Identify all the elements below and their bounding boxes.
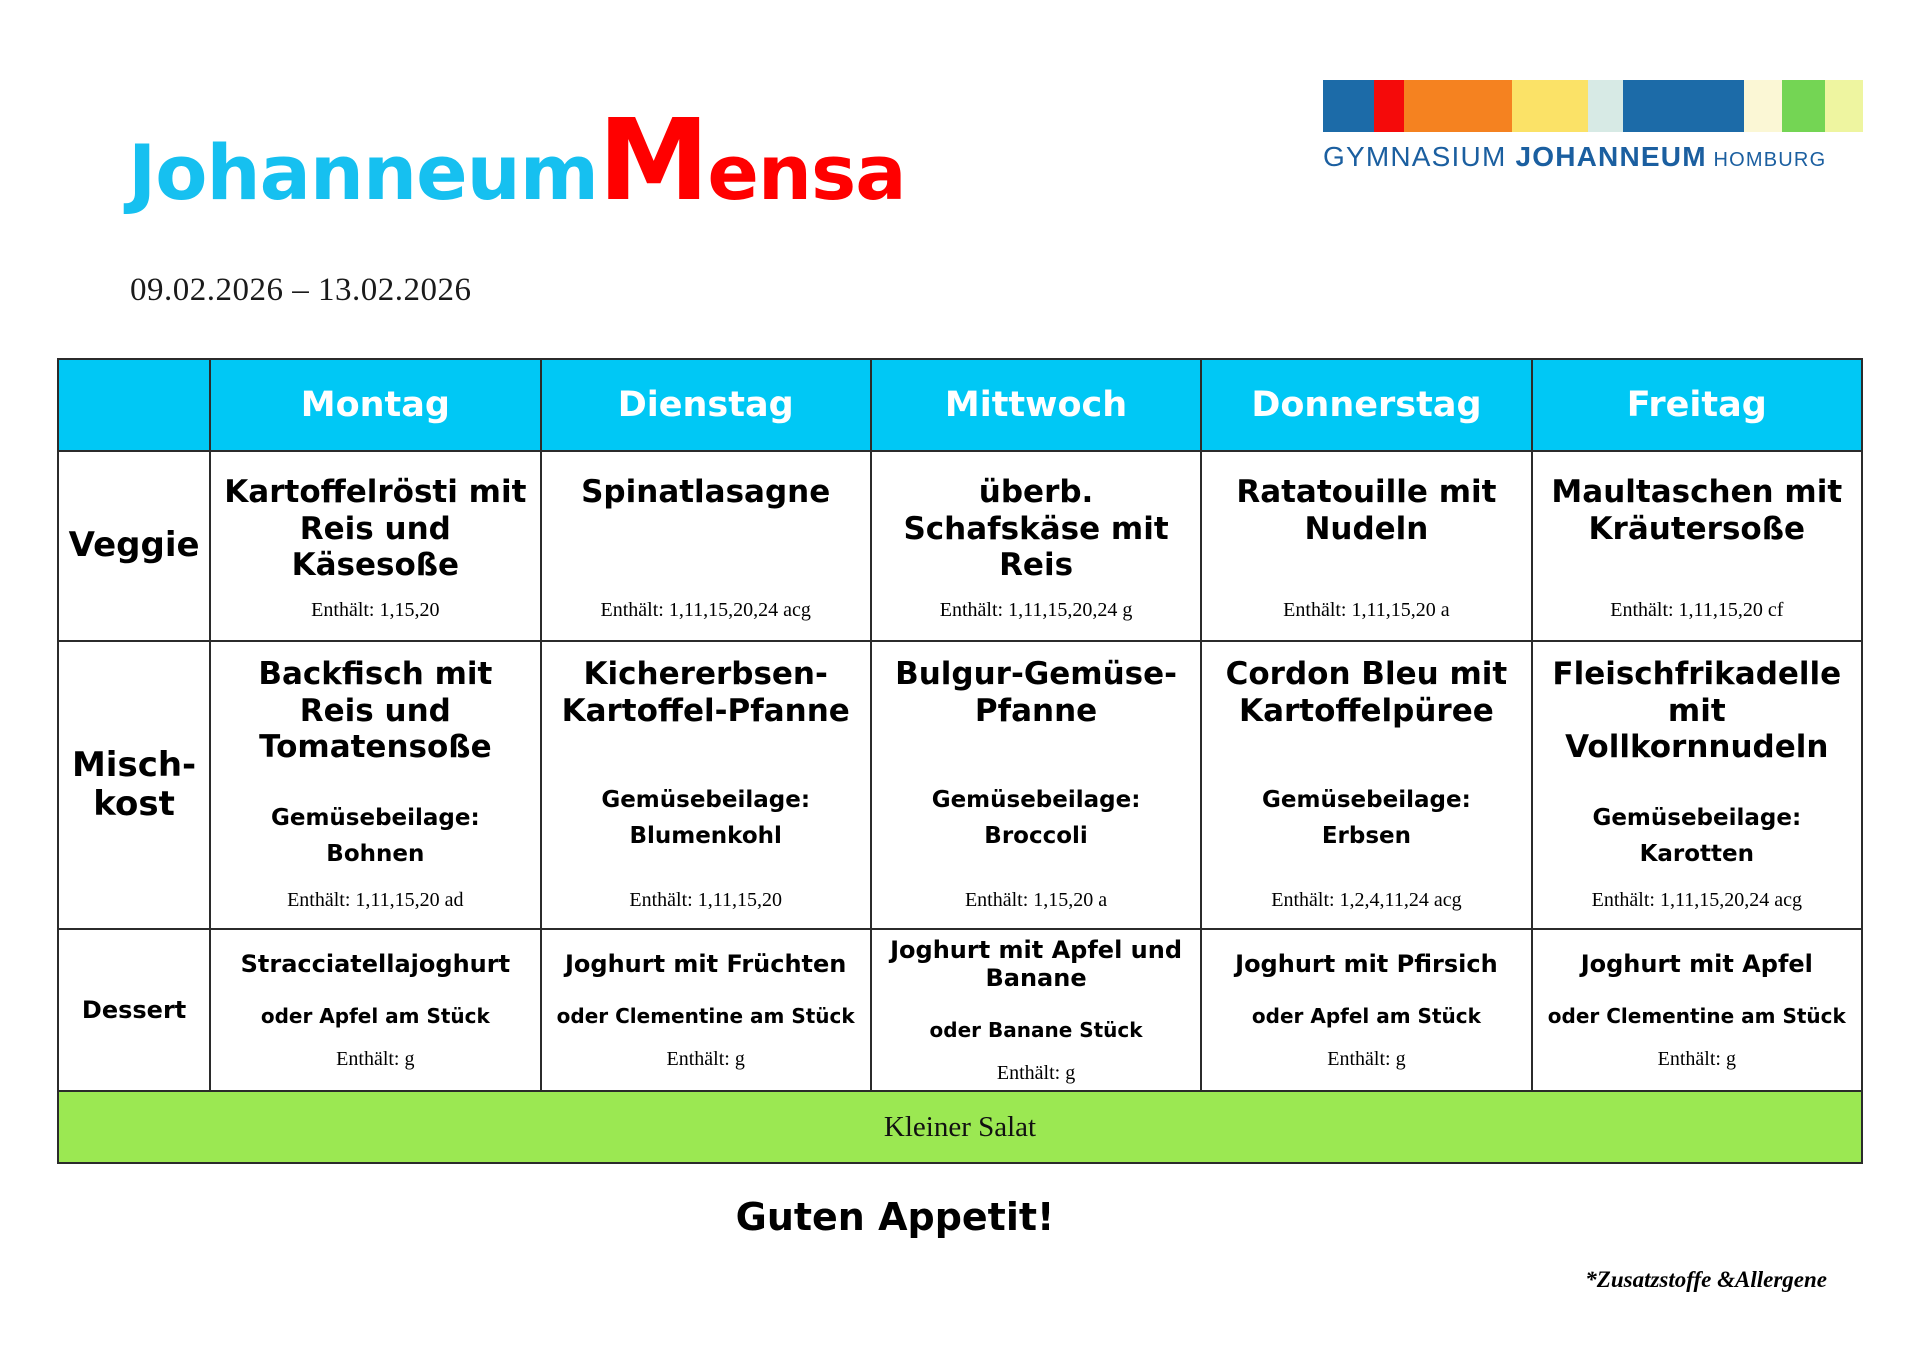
cell-veggie-dienstag: Spinatlasagne Enthält: 1,11,15,20,24 acg: [541, 451, 871, 641]
logo-bar-mint: [1588, 80, 1623, 132]
allergen-info: Enthält: 1,11,15,20,24 acg: [548, 599, 864, 622]
side-dish-value: Bohnen: [217, 841, 533, 867]
dish-name: Spinatlasagne: [548, 474, 864, 511]
dish-name: Maultaschen mit Kräutersoße: [1539, 474, 1855, 547]
logo-wordmark: GYMNASIUM JOHANNEUM HOMBURG: [1323, 141, 1863, 173]
header-day-donnerstag: Donnerstag: [1201, 359, 1531, 451]
row-label-veggie: Veggie: [58, 451, 210, 641]
allergen-info: Enthält: g: [548, 1048, 864, 1071]
dessert-alternative: oder Apfel am Stück: [217, 1004, 533, 1028]
dish-name: Ratatouille mit Nudeln: [1208, 474, 1524, 547]
allergen-info: Enthält: g: [1208, 1048, 1524, 1071]
dessert-alternative: oder Apfel am Stück: [1208, 1004, 1524, 1028]
dessert-name: Joghurt mit Früchten: [548, 950, 864, 978]
logo-bar-cream: [1744, 80, 1782, 132]
side-dish-label: Gemüsebeilage:: [878, 787, 1194, 813]
cell-veggie-freitag: Maultaschen mit Kräutersoße Enthält: 1,1…: [1532, 451, 1862, 641]
table-row-salad: Kleiner Salat: [58, 1091, 1862, 1163]
dessert-alternative: oder Banane Stück: [878, 1018, 1194, 1042]
allergen-info: Enthält: 1,2,4,11,24 acg: [1208, 889, 1524, 912]
cell-dessert-dienstag: Joghurt mit Früchten oder Clementine am …: [541, 929, 871, 1091]
dessert-name: Stracciatellajoghurt: [217, 950, 533, 978]
header-day-freitag: Freitag: [1532, 359, 1862, 451]
logo-bar-blue-1: [1323, 80, 1374, 132]
header-corner-cell: [58, 359, 210, 451]
weekly-menu-table: Montag Dienstag Mittwoch Donnerstag Frei…: [57, 358, 1863, 1164]
header-day-montag: Montag: [210, 359, 540, 451]
logo-text-johanneum: JOHANNEUM: [1515, 141, 1706, 172]
allergen-info: Enthält: 1,11,15,20,24 g: [878, 599, 1194, 622]
allergen-info: Enthält: 1,11,15,20: [548, 889, 864, 912]
allergen-info: Enthält: 1,11,15,20,24 acg: [1539, 889, 1855, 912]
cell-mischkost-montag: Backfisch mit Reis und Tomatensoße Gemüs…: [210, 641, 540, 929]
logo-bar-green: [1782, 80, 1825, 132]
dish-name: Fleischfrikadelle mit Vollkornnudeln: [1539, 656, 1855, 766]
school-logo: GYMNASIUM JOHANNEUM HOMBURG: [1323, 80, 1863, 173]
cell-dessert-mittwoch: Joghurt mit Apfel und Banane oder Banane…: [871, 929, 1201, 1091]
logo-bar-orange: [1404, 80, 1512, 132]
dish-name: Kartoffelrösti mit Reis und Käsesoße: [217, 474, 533, 584]
page-header: JohanneumMensa 09.02.2026 – 13.02.2026 G…: [0, 0, 1920, 300]
salad-banner: Kleiner Salat: [58, 1091, 1862, 1163]
side-dish-label: Gemüsebeilage:: [1539, 805, 1855, 831]
side-dish-value: Karotten: [1539, 841, 1855, 867]
dish-name: Cordon Bleu mit Kartoffelpüree: [1208, 656, 1524, 729]
cell-dessert-donnerstag: Joghurt mit Pfirsich oder Apfel am Stück…: [1201, 929, 1531, 1091]
logo-text-homburg: HOMBURG: [1707, 149, 1827, 171]
cell-mischkost-freitag: Fleischfrikadelle mit Vollkornnudeln Gem…: [1532, 641, 1862, 929]
logo-bar-red: [1374, 80, 1404, 132]
dish-name: Bulgur-Gemüse-Pfanne: [878, 656, 1194, 729]
cell-veggie-donnerstag: Ratatouille mit Nudeln Enthält: 1,11,15,…: [1201, 451, 1531, 641]
allergen-info: Enthält: 1,11,15,20 a: [1208, 599, 1524, 622]
dessert-name: Joghurt mit Apfel: [1539, 950, 1855, 978]
header-day-dienstag: Dienstag: [541, 359, 871, 451]
table-header-row: Montag Dienstag Mittwoch Donnerstag Frei…: [58, 359, 1862, 451]
header-day-mittwoch: Mittwoch: [871, 359, 1201, 451]
allergen-info: Enthält: 1,11,15,20 ad: [217, 889, 533, 912]
dish-name: überb. Schafskäse mit Reis: [878, 474, 1194, 584]
table-row-mischkost: Misch- kost Backfisch mit Reis und Tomat…: [58, 641, 1862, 929]
cell-dessert-montag: Stracciatellajoghurt oder Apfel am Stück…: [210, 929, 540, 1091]
row-label-mischkost: Misch- kost: [58, 641, 210, 929]
dessert-name: Joghurt mit Pfirsich: [1208, 950, 1524, 978]
side-dish-label: Gemüsebeilage:: [548, 787, 864, 813]
title-ensa: ensa: [707, 128, 905, 217]
logo-bar-paleyellow: [1825, 80, 1863, 132]
dish-name: Backfisch mit Reis und Tomatensoße: [217, 656, 533, 766]
cell-mischkost-mittwoch: Bulgur-Gemüse-Pfanne Gemüsebeilage: Broc…: [871, 641, 1201, 929]
menu-table-container: Montag Dienstag Mittwoch Donnerstag Frei…: [57, 358, 1863, 1164]
title-m-letter: M: [598, 96, 707, 226]
cell-veggie-montag: Kartoffelrösti mit Reis und Käsesoße Ent…: [210, 451, 540, 641]
page-footer: Guten Appetit! *Zusatzstoffe &Allergene: [57, 1195, 1863, 1293]
dessert-alternative: oder Clementine am Stück: [548, 1004, 864, 1028]
row-label-mischkost-line1: Misch-: [65, 746, 203, 785]
dessert-name: Joghurt mit Apfel und Banane: [878, 936, 1194, 992]
row-label-dessert: Dessert: [58, 929, 210, 1091]
side-dish-value: Broccoli: [878, 823, 1194, 849]
table-row-veggie: Veggie Kartoffelrösti mit Reis und Käses…: [58, 451, 1862, 641]
logo-color-bars: [1323, 80, 1863, 132]
table-row-dessert: Dessert Stracciatellajoghurt oder Apfel …: [58, 929, 1862, 1091]
logo-bar-blue-2: [1623, 80, 1745, 132]
allergen-info: Enthält: g: [217, 1048, 533, 1071]
date-range: 09.02.2026 – 13.02.2026: [130, 272, 472, 309]
dessert-alternative: oder Clementine am Stück: [1539, 1004, 1855, 1028]
allergen-info: Enthält: g: [878, 1062, 1194, 1085]
side-dish-label: Gemüsebeilage:: [1208, 787, 1524, 813]
allergen-info: Enthält: 1,11,15,20 cf: [1539, 599, 1855, 622]
cell-dessert-freitag: Joghurt mit Apfel oder Clementine am Stü…: [1532, 929, 1862, 1091]
allergen-info: Enthält: 1,15,20 a: [878, 889, 1194, 912]
allergen-info: Enthält: g: [1539, 1048, 1855, 1071]
page-title: JohanneumMensa: [128, 128, 906, 217]
dish-name: Kichererbsen-Kartoffel-Pfanne: [548, 656, 864, 729]
logo-bar-yellow: [1512, 80, 1588, 132]
cell-veggie-mittwoch: überb. Schafskäse mit Reis Enthält: 1,11…: [871, 451, 1201, 641]
row-label-mischkost-line2: kost: [65, 785, 203, 824]
side-dish-label: Gemüsebeilage:: [217, 805, 533, 831]
guten-appetit-text: Guten Appetit!: [0, 1195, 1863, 1239]
side-dish-value: Erbsen: [1208, 823, 1524, 849]
zusatzstoffe-note: *Zusatzstoffe &Allergene: [57, 1267, 1863, 1293]
title-johanneum: Johanneum: [128, 128, 598, 217]
allergen-info: Enthält: 1,15,20: [217, 599, 533, 622]
cell-mischkost-donnerstag: Cordon Bleu mit Kartoffelpüree Gemüsebei…: [1201, 641, 1531, 929]
cell-mischkost-dienstag: Kichererbsen-Kartoffel-Pfanne Gemüsebeil…: [541, 641, 871, 929]
side-dish-value: Blumenkohl: [548, 823, 864, 849]
logo-text-gymnasium: GYMNASIUM: [1323, 141, 1515, 172]
